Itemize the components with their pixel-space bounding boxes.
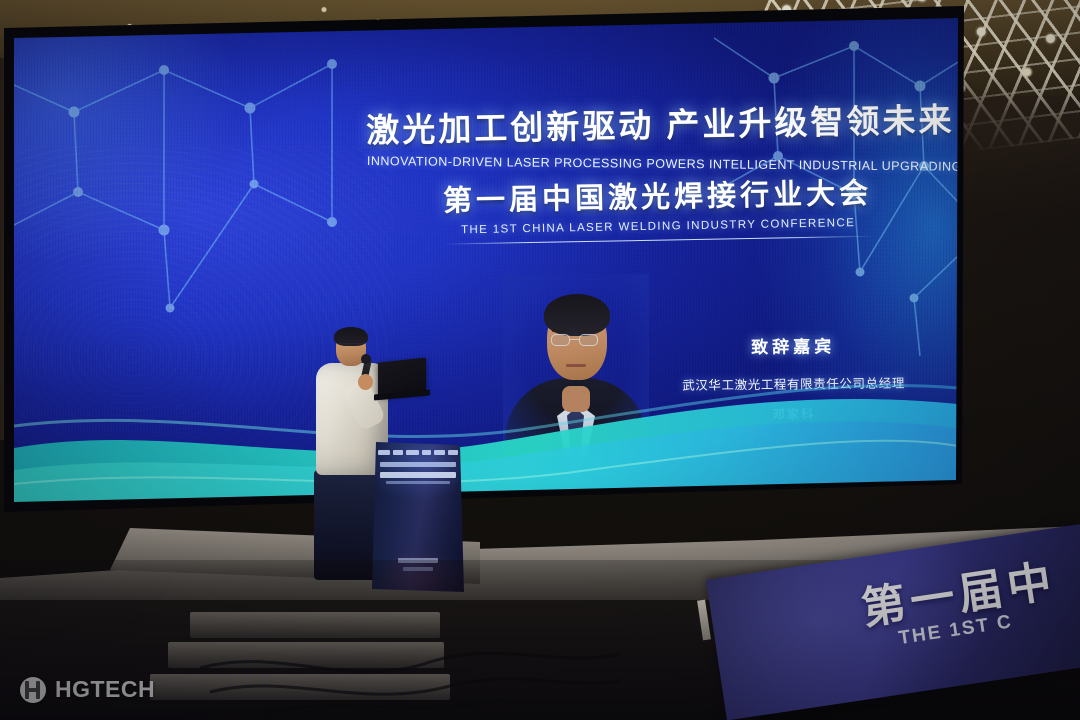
podium-sponsor-logo: [422, 450, 431, 455]
hgtech-logo-crossbar: [25, 688, 40, 692]
podium-sponsor-logo: [448, 450, 458, 455]
floor-cables: [200, 628, 620, 718]
headline-subtitle-cn: 第一届中国激光焊接行业大会: [367, 168, 948, 221]
podium-sponsor-logo: [434, 450, 445, 455]
screen-wave-graphic: [14, 352, 958, 502]
presenter-glasses: [339, 343, 364, 350]
podium-sponsor-logo: [406, 450, 419, 455]
podium-banner-line-1: [380, 462, 456, 467]
hgtech-wordmark: HGTECH: [55, 676, 155, 703]
podium-sponsor-logo-row: [378, 449, 458, 456]
led-screen: 激光加工创新驱动 产业升级智领未来 INNOVATION-DRIVEN LASE…: [14, 16, 958, 502]
presenter-hand: [358, 374, 373, 390]
conference-headline-block: 激光加工创新驱动 产业升级智领未来 INNOVATION-DRIVEN LASE…: [366, 101, 948, 246]
podium-sponsor-logo: [378, 450, 390, 455]
microphone-head-icon: [361, 354, 371, 364]
conference-stage-photo: 激光加工创新驱动 产业升级智领未来 INNOVATION-DRIVEN LASE…: [0, 0, 1080, 720]
led-screen-frame: 激光加工创新驱动 产业升级智领未来 INNOVATION-DRIVEN LASE…: [4, 6, 964, 512]
podium-banner-line-3: [386, 481, 450, 484]
podium-sponsor-logo: [393, 450, 403, 455]
headline-title-en: INNOVATION-DRIVEN LASER PROCESSING POWER…: [367, 154, 947, 174]
podium-banner-line-2: [380, 472, 456, 478]
hgtech-logo-icon: [20, 677, 46, 703]
hgtech-watermark: HGTECH: [20, 676, 155, 703]
